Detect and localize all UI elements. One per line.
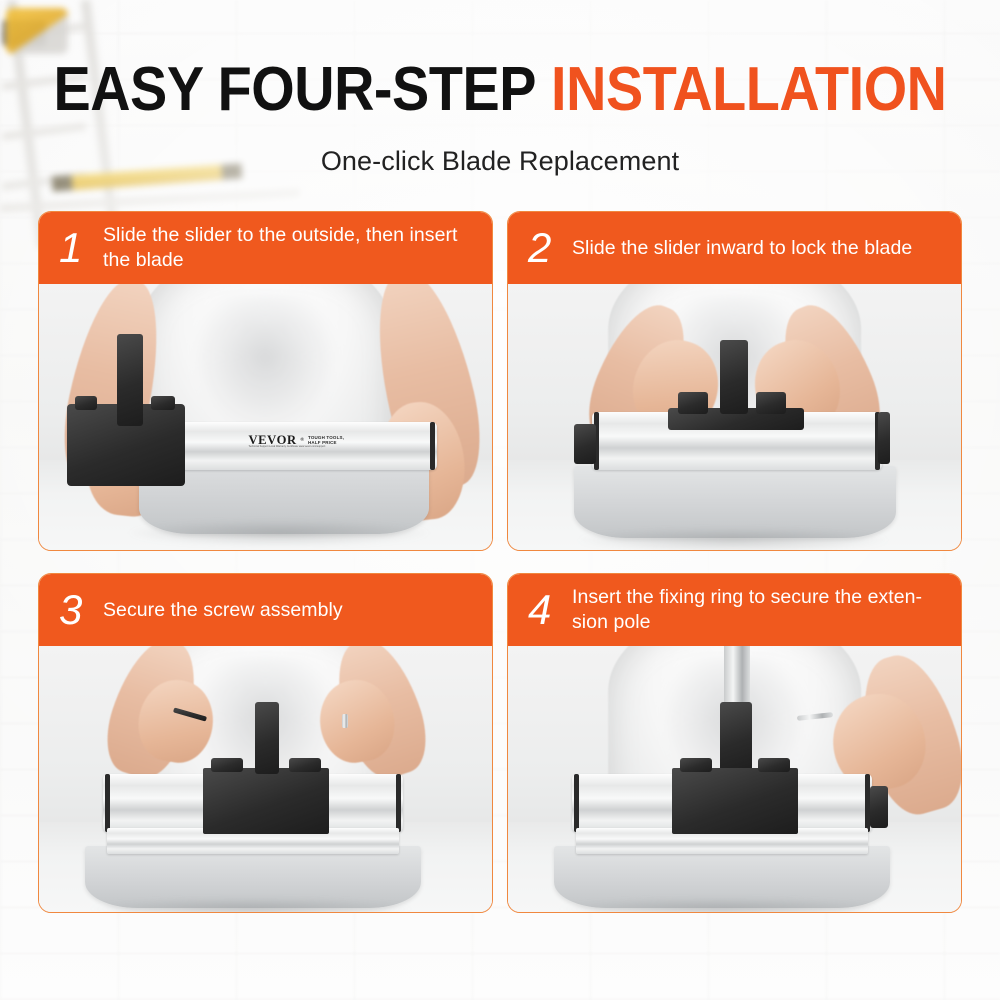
step-number-3: 3: [59, 589, 99, 631]
step-photo-1: VEVOR ® TOUGH TOOLS, HALF PRICE Technica…: [39, 284, 492, 550]
pole-collar: [720, 702, 752, 774]
step-text-1: Slide the slider to the outside, then in…: [99, 223, 476, 273]
end-cap-left: [574, 424, 596, 464]
step-text-2: Slide the slider inward to lock the blad…: [568, 236, 945, 261]
bracket-notch-right: [758, 758, 790, 772]
step-card-4[interactable]: 4 Insert the fixing ring to secure the e…: [507, 573, 962, 913]
end-cap-right: [870, 786, 888, 828]
step-number-1: 1: [59, 227, 99, 269]
step-header-3: 3 Secure the screw assembly: [39, 574, 492, 646]
slider-notch-a: [75, 396, 97, 410]
step-photo-3: [39, 646, 492, 912]
slider-tab-right: [756, 392, 786, 414]
vevor-logo: VEVOR ® TOUGH TOOLS, HALF PRICE Technica…: [248, 432, 344, 448]
screw-icon: [342, 714, 348, 728]
page-subtitle: One-click Blade Replacement: [0, 145, 1000, 177]
slider-tab-upright: [117, 334, 143, 426]
slider-upright: [720, 340, 748, 414]
bracket-notch-left: [211, 758, 243, 772]
step-text-4-line1: Insert the fixing ring to secure the ext…: [572, 586, 922, 608]
title-black-part: EASY FOUR-STEP: [53, 55, 536, 124]
bracket-body: [672, 768, 798, 834]
step-number-2: 2: [528, 227, 568, 269]
step-header-2: 2 Slide the slider inward to lock the bl…: [508, 212, 961, 284]
tool-shadow: [129, 520, 429, 546]
step-card-2[interactable]: 2 Slide the slider inward to lock the bl…: [507, 211, 962, 551]
header: EASY FOUR-STEP INSTALLATION One-click Bl…: [0, 0, 1000, 177]
step-number-4: 4: [528, 589, 568, 631]
step-text-3: Secure the screw assembly: [99, 598, 476, 623]
step-card-1[interactable]: 1 Slide the slider to the outside, then …: [38, 211, 493, 551]
bracket-notch-right: [289, 758, 321, 772]
bracket-body: [203, 768, 329, 834]
title-accent-part: INSTALLATION: [551, 55, 946, 124]
tool-shadow: [91, 898, 411, 912]
bracket-upright: [255, 702, 279, 774]
step-header-4: 4 Insert the fixing ring to secure the e…: [508, 574, 961, 646]
end-cap-right: [878, 412, 890, 464]
tool-shadow: [560, 898, 880, 912]
bracket-notch-left: [680, 758, 712, 772]
slider-notch-b: [151, 396, 175, 410]
step-header-1: 1 Slide the slider to the outside, then …: [39, 212, 492, 284]
step-text-4: Insert the fixing ring to secure the ext…: [568, 585, 945, 635]
step-card-3[interactable]: 3 Secure the screw assembly: [38, 573, 493, 913]
tool-shadow: [578, 528, 888, 550]
step-photo-4: [508, 646, 961, 912]
step-photo-2: [508, 284, 961, 550]
slider-tab-left: [678, 392, 708, 414]
vevor-fineprint: Technical Support Local Warranty Certifi…: [248, 445, 325, 448]
steps-grid: 1 Slide the slider to the outside, then …: [38, 211, 962, 913]
page-title: EASY FOUR-STEP INSTALLATION: [50, 58, 950, 122]
step-text-4-line2: sion pole: [572, 611, 651, 633]
